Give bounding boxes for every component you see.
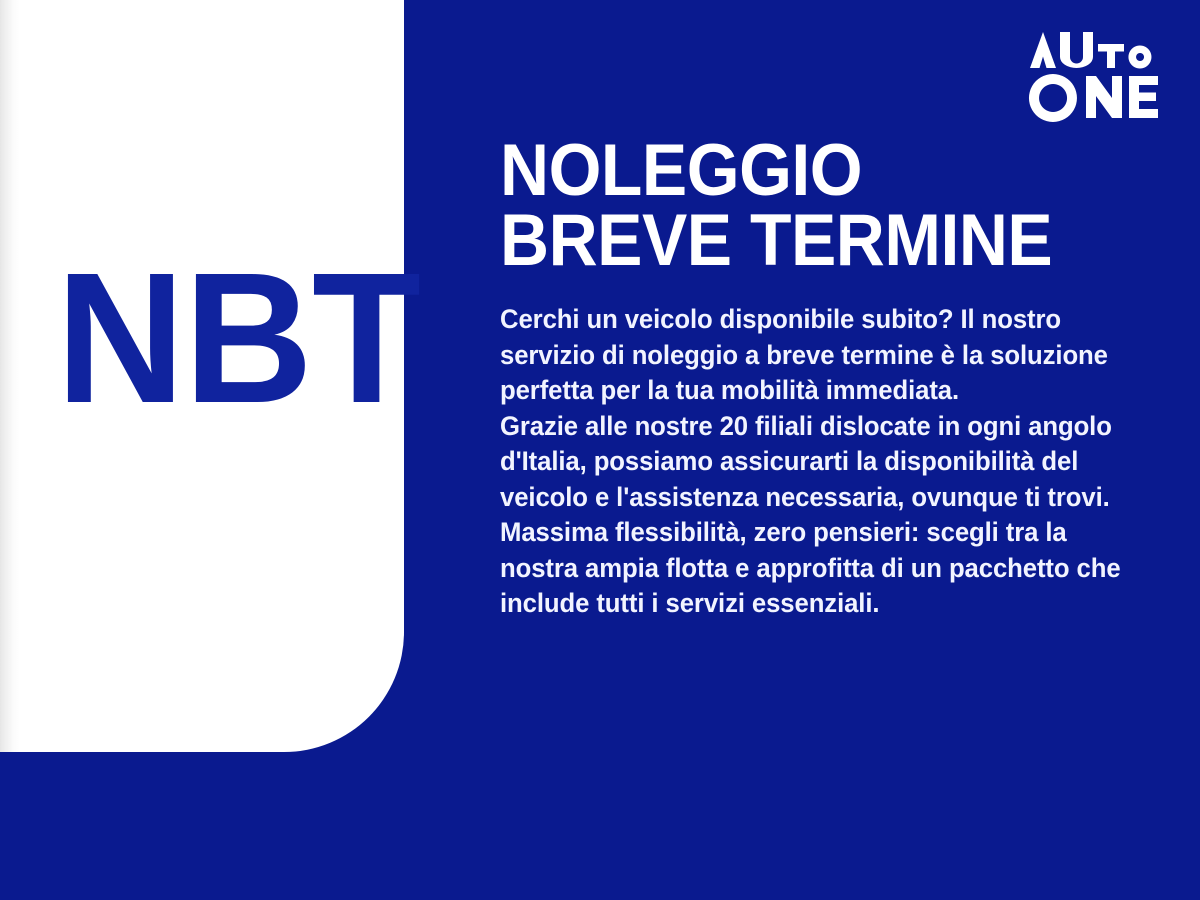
body-paragraph: Cerchi un veicolo disponibile subito? Il… xyxy=(500,302,1121,409)
page-title: NOLEGGIO BREVE TERMINE xyxy=(500,136,1095,276)
auto-one-logo xyxy=(1012,26,1172,122)
body-paragraph: Grazie alle nostre 20 filiali dislocate … xyxy=(500,409,1121,516)
logo-letter-t-small-icon xyxy=(1098,44,1124,68)
body-copy: Cerchi un veicolo disponibile subito? Il… xyxy=(500,302,1121,622)
promotional-poster: NBT xyxy=(0,0,1200,900)
logo-letter-a-icon xyxy=(1030,32,1056,68)
content-column: NOLEGGIO BREVE TERMINE Cerchi un veicolo… xyxy=(500,136,1140,622)
logo-letter-u-icon xyxy=(1060,32,1093,68)
logo-letter-n-icon xyxy=(1086,76,1122,118)
nbt-monogram: NBT xyxy=(56,244,325,434)
logo-letter-e-icon xyxy=(1129,76,1158,118)
headline-line-2: BREVE TERMINE xyxy=(500,206,1095,276)
panel-edge-shadow xyxy=(0,0,20,752)
logo-letter-o-ring-icon xyxy=(1029,74,1077,122)
logo-letter-o-small-icon xyxy=(1128,46,1151,69)
body-paragraph: Massima flessibilità, zero pensieri: sce… xyxy=(500,515,1121,622)
headline-line-1: NOLEGGIO xyxy=(500,136,1095,206)
